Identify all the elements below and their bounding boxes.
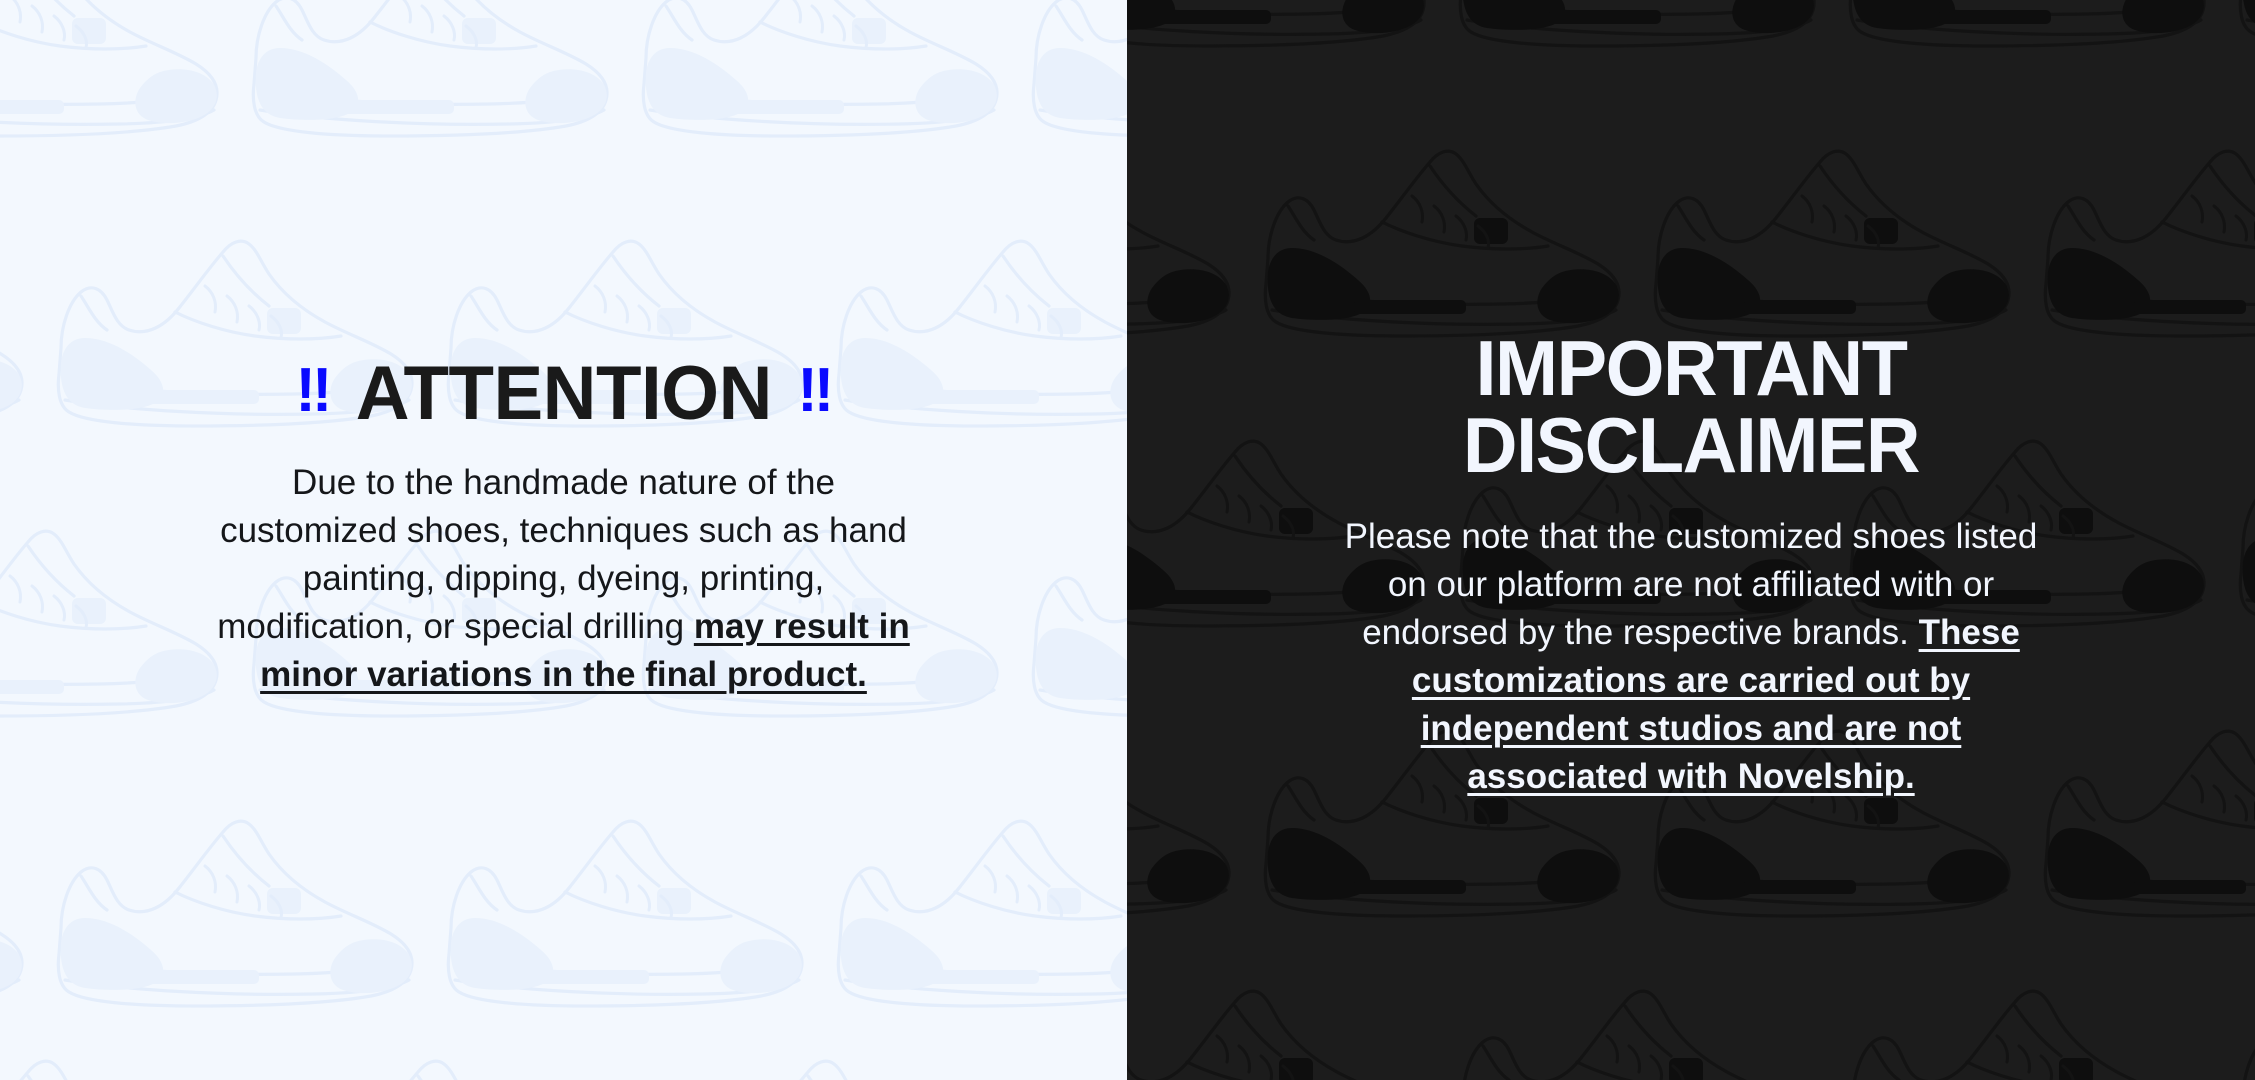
attention-body: Due to the handmade nature of the custom… xyxy=(214,459,914,699)
disclaimer-banner: ‼ ATTENTION ‼ Due to the handmade nature… xyxy=(0,0,2255,1080)
disclaimer-headline: IMPORTANT DISCLAIMER xyxy=(1342,330,2040,484)
disclaimer-panel: IMPORTANT DISCLAIMER Please note that th… xyxy=(1127,0,2255,1080)
attention-panel: ‼ ATTENTION ‼ Due to the handmade nature… xyxy=(0,0,1127,1080)
disclaimer-content: IMPORTANT DISCLAIMER Please note that th… xyxy=(1127,0,2255,801)
attention-headline-text: ATTENTION xyxy=(355,356,771,432)
attention-headline: ‼ ATTENTION ‼ xyxy=(295,356,832,432)
disclaimer-body: Please note that the customized shoes li… xyxy=(1331,513,2051,801)
double-exclamation-right-icon: ‼ xyxy=(797,360,832,422)
attention-content: ‼ ATTENTION ‼ Due to the handmade nature… xyxy=(0,0,1127,699)
double-exclamation-left-icon: ‼ xyxy=(295,360,330,422)
